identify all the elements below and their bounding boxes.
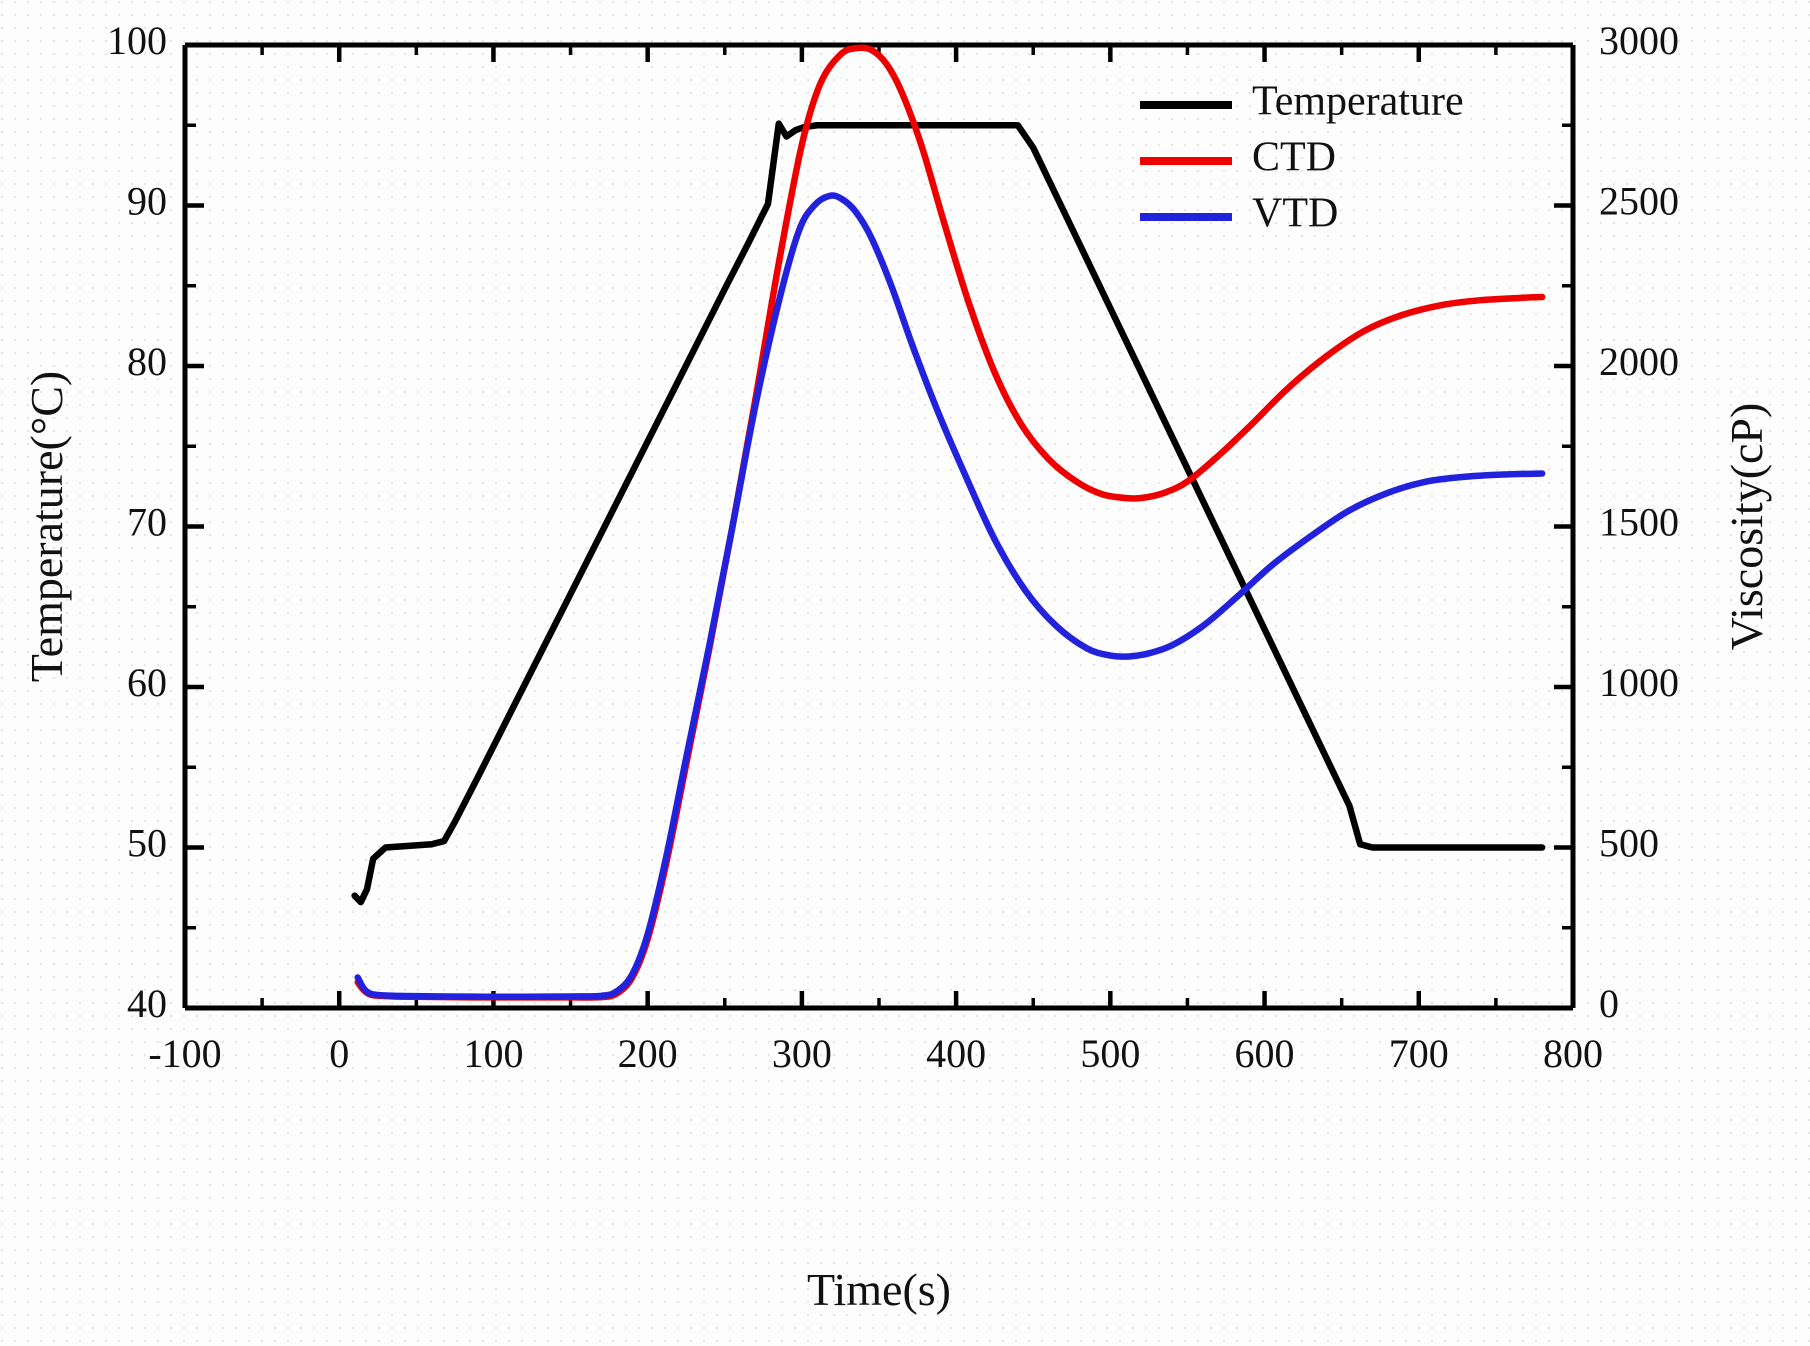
chart-canvas: -100010020030040050060070080040506070809… [0, 0, 1810, 1346]
x-tick-label: 500 [1080, 1031, 1140, 1076]
y-tick-label-right: 3000 [1599, 18, 1679, 63]
x-tick-label: 400 [926, 1031, 986, 1076]
axes [185, 45, 1573, 1008]
y-axis-title-left: Temperature(°C) [21, 371, 72, 682]
legend-label-temperature: Temperature [1252, 79, 1464, 125]
x-tick-label: -100 [148, 1031, 221, 1076]
x-tick-label: 600 [1235, 1031, 1295, 1076]
legend-label-ctd: CTD [1252, 135, 1336, 181]
y-tick-label-left: 90 [127, 179, 167, 224]
chart-figure: -100010020030040050060070080040506070809… [0, 0, 1810, 1346]
y-tick-label-right: 0 [1599, 981, 1619, 1026]
y-tick-label-left: 80 [127, 339, 167, 384]
x-tick-label: 100 [463, 1031, 523, 1076]
x-tick-label: 700 [1389, 1031, 1449, 1076]
y-tick-label-right: 2500 [1599, 179, 1679, 224]
y-axis-title-right: Viscosity(cP) [1721, 403, 1772, 651]
legend-label-vtd: VTD [1252, 191, 1338, 237]
y-tick-label-left: 50 [127, 821, 167, 866]
x-axis-title: Time(s) [807, 1264, 951, 1315]
y-tick-label-right: 1500 [1599, 500, 1679, 545]
tick-labels: -100010020030040050060070080040506070809… [107, 18, 1679, 1076]
y-tick-label-right: 2000 [1599, 339, 1679, 384]
data-series-layer [355, 48, 1543, 998]
axis-titles: Time(s)Temperature(°C)Viscosity(cP) [21, 371, 1772, 1315]
y-tick-label-left: 60 [127, 660, 167, 705]
y-tick-label-right: 500 [1599, 821, 1659, 866]
chart-legend: TemperatureCTDVTD [1140, 79, 1464, 237]
series-line-vtd [358, 196, 1542, 997]
y-tick-label-left: 70 [127, 500, 167, 545]
x-tick-label: 0 [329, 1031, 349, 1076]
x-tick-label: 800 [1543, 1031, 1603, 1076]
y-tick-label-left: 40 [127, 981, 167, 1026]
x-tick-label: 300 [772, 1031, 832, 1076]
y-tick-label-right: 1000 [1599, 660, 1679, 705]
y-tick-label-left: 100 [107, 18, 167, 63]
x-tick-label: 200 [618, 1031, 678, 1076]
series-line-ctd [358, 48, 1542, 998]
